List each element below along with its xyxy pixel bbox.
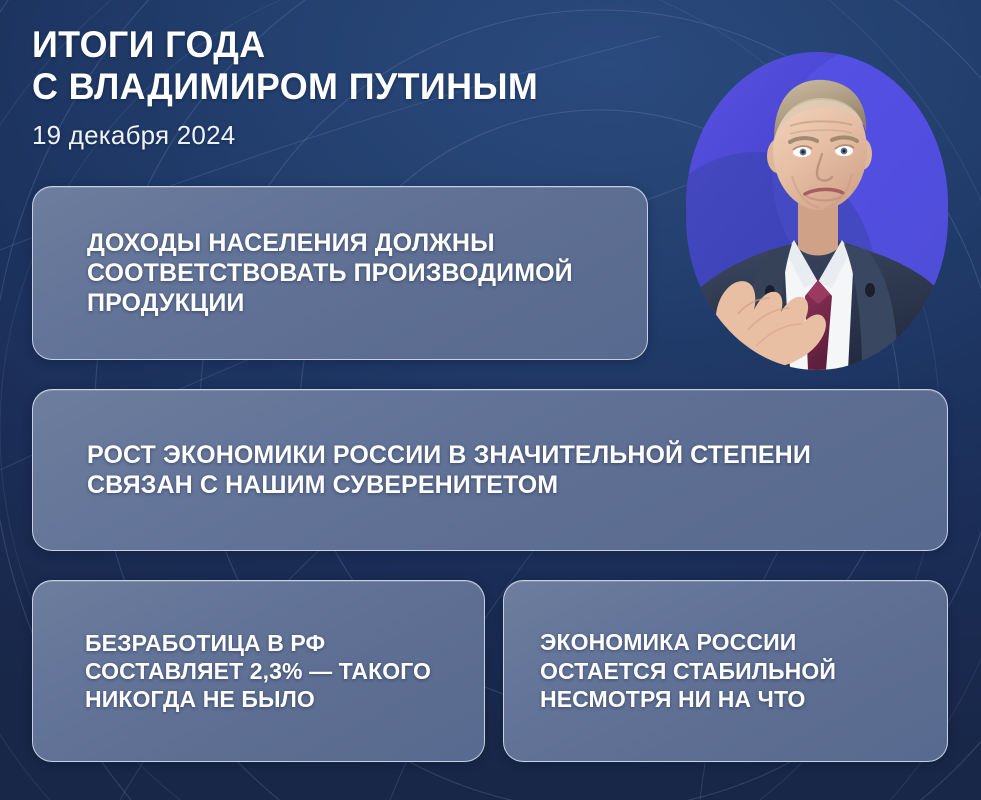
quote-card-1-text: ДОХОДЫ НАСЕЛЕНИЯ ДОЛЖНЫ СООТВЕТСТВОВАТЬ … [87, 228, 621, 318]
quote-card-4-text: ЭКОНОМИКА РОССИИ ОСТАЕТСЯ СТАБИЛЬНОЙ НЕС… [540, 628, 927, 714]
infographic-poster: ИТОГИ ГОДА С ВЛАДИМИРОМ ПУТИНЫМ 19 декаб… [0, 0, 981, 800]
quote-card-4: ЭКОНОМИКА РОССИИ ОСТАЕТСЯ СТАБИЛЬНОЙ НЕС… [503, 580, 948, 762]
poster-date: 19 декабря 2024 [32, 120, 732, 151]
quote-card-3: БЕЗРАБОТИЦА В РФ СОСТАВЛЯЕТ 2,3% — ТАКОГ… [32, 580, 485, 762]
page-title: ИТОГИ ГОДА С ВЛАДИМИРОМ ПУТИНЫМ [32, 24, 711, 108]
quote-card-2: РОСТ ЭКОНОМИКИ РОССИИ В ЗНАЧИТЕЛЬНОЙ СТЕ… [32, 389, 948, 551]
quote-card-2-text: РОСТ ЭКОНОМИКИ РОССИИ В ЗНАЧИТЕЛЬНОЙ СТЕ… [87, 440, 921, 501]
title-line-2: С ВЛАДИМИРОМ ПУТИНЫМ [32, 66, 711, 108]
title-line-1: ИТОГИ ГОДА [32, 24, 266, 65]
quote-card-3-text: БЕЗРАБОТИЦА В РФ СОСТАВЛЯЕТ 2,3% — ТАКОГ… [85, 629, 464, 713]
quote-card-1: ДОХОДЫ НАСЕЛЕНИЯ ДОЛЖНЫ СООТВЕТСТВОВАТЬ … [32, 186, 648, 360]
poster-header: ИТОГИ ГОДА С ВЛАДИМИРОМ ПУТИНЫМ 19 декаб… [32, 24, 732, 151]
